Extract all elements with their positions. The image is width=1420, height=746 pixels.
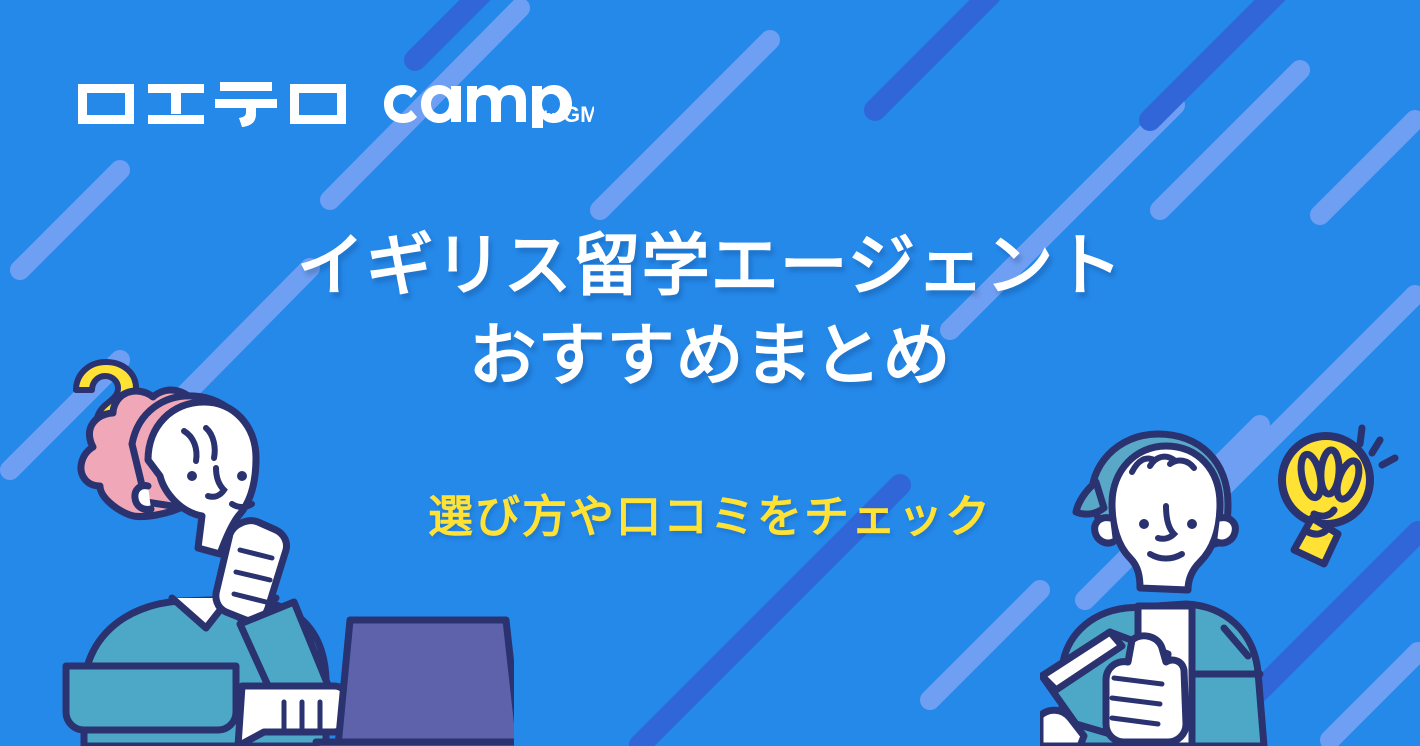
article-hero-banner: by GMO イギリス留学エージェント おすすめまとめ 選び方や口コミをチェック	[0, 0, 1420, 746]
svg-text:by: by	[544, 108, 560, 123]
illustration-person-with-book	[1040, 386, 1420, 746]
illustration-woman-at-laptop	[44, 336, 514, 746]
site-logo[interactable]: by GMO	[74, 72, 594, 128]
svg-text:GMO: GMO	[563, 102, 594, 127]
